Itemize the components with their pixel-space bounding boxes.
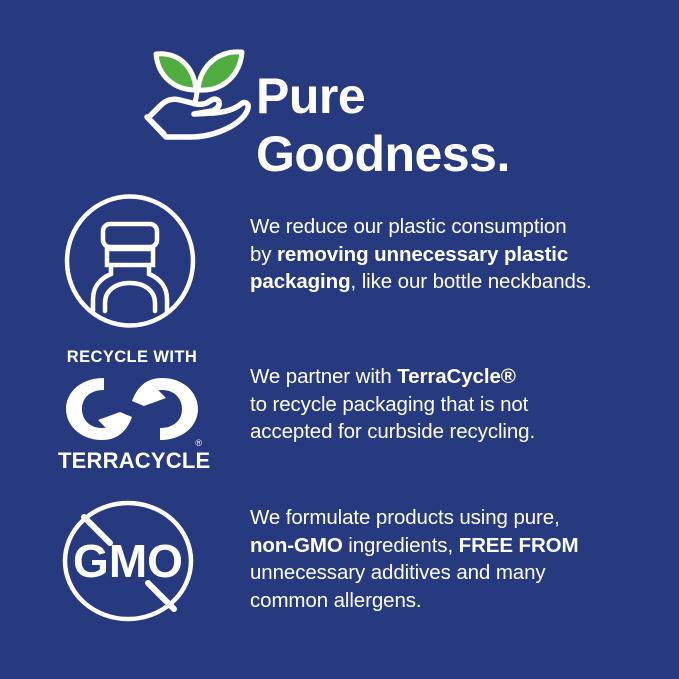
plain-text: unnecessary additives and many: [250, 561, 546, 584]
plain-text: to recycle packaging that is not: [250, 393, 528, 416]
benefit-text-line: by removing unnecessary plastic: [250, 241, 670, 269]
emphasis-text: TerraCycle®: [397, 365, 515, 388]
plain-text: We partner with: [250, 365, 397, 388]
plain-text: common allergens.: [250, 589, 422, 612]
emphasis-text: packaging: [250, 270, 351, 293]
gmo-label: GMO: [73, 535, 183, 587]
benefit-text-plastic: We reduce our plastic consumptionby remo…: [250, 213, 670, 296]
emphasis-text: removing unnecessary plastic: [277, 243, 568, 266]
terracycle-bottom-label: TERRACYCLE: [58, 448, 206, 474]
page-title-line-1: Pure: [256, 67, 656, 125]
terracycle-top-label: RECYCLE WITH: [58, 348, 206, 367]
header: Pure Goodness.: [0, 0, 679, 170]
pure-goodness-infographic: Pure Goodness. We reduce our plastic con…: [0, 0, 679, 679]
benefit-text-line: accepted for curbside recycling.: [250, 418, 650, 446]
emphasis-text: FREE FROM: [459, 534, 579, 557]
benefit-text-line: We partner with TerraCycle®: [250, 363, 650, 391]
benefit-text-line: common allergens.: [250, 587, 670, 615]
plain-text: We formulate products using pure,: [250, 506, 560, 529]
benefit-text-line: to recycle packaging that is not: [250, 391, 650, 419]
bottle-neckband-circle-icon: [63, 193, 197, 329]
page-title-line-2: Goodness.: [256, 125, 656, 183]
plain-text: by: [250, 243, 277, 266]
terracycle-infinity-icon: [62, 372, 202, 446]
plain-text: , like our bottle neckbands.: [351, 270, 592, 293]
benefit-text-line: We reduce our plastic consumption: [250, 213, 670, 241]
benefit-text-line: non-GMO ingredients, FREE FROM: [250, 532, 670, 560]
plain-text: accepted for curbside recycling.: [250, 420, 535, 443]
plain-text: ingredients,: [343, 534, 459, 557]
benefit-text-line: We formulate products using pure,: [250, 504, 670, 532]
benefit-text-gmo: We formulate products using pure,non-GMO…: [250, 504, 670, 614]
hand-holding-sprout-icon: [144, 38, 250, 142]
emphasis-text: non-GMO: [250, 534, 343, 557]
page-title: Pure Goodness.: [256, 67, 656, 183]
benefit-text-line: packaging, like our bottle neckbands.: [250, 268, 670, 296]
benefit-text-terracycle: We partner with TerraCycle®to recycle pa…: [250, 363, 650, 446]
benefit-text-line: unnecessary additives and many: [250, 559, 670, 587]
no-gmo-circle-icon: GMO: [58, 500, 198, 622]
terracycle-logo: RECYCLE WITH ® TERRACYCLE: [58, 348, 206, 474]
terracycle-registered-mark: ®: [195, 439, 202, 448]
plain-text: We reduce our plastic consumption: [250, 215, 567, 238]
